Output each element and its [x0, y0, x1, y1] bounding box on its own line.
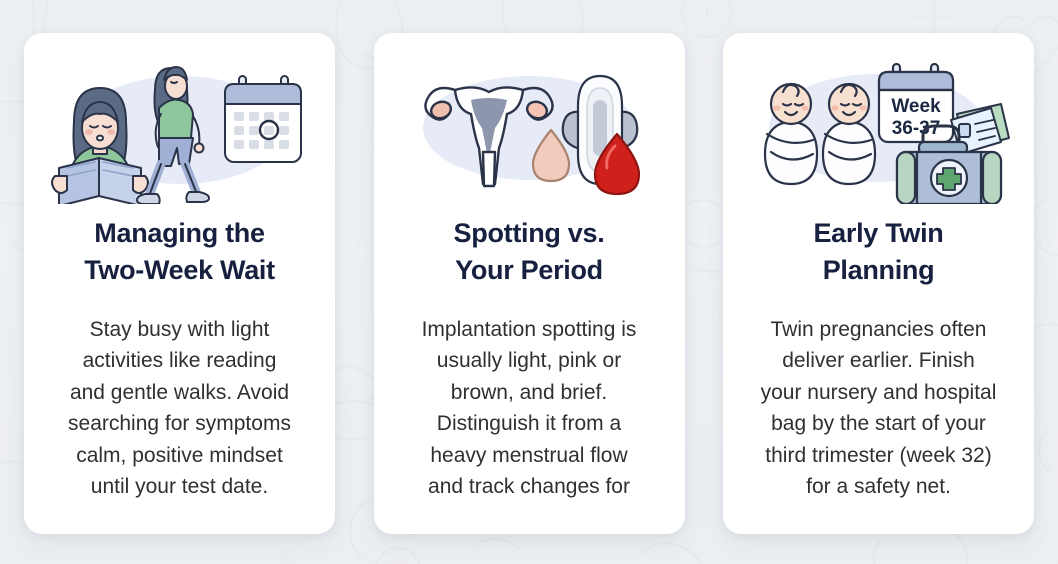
- card-body-text: Implantation spotting is usually light, …: [414, 314, 645, 503]
- card-early-twin-planning[interactable]: Week 36-37: [723, 33, 1034, 534]
- card-title: Spotting vs. Your Period: [454, 215, 605, 290]
- card-spotting-vs-period[interactable]: Spotting vs. Your Period Implantation sp…: [374, 33, 685, 534]
- card-title: Managing the Two-Week Wait: [84, 215, 275, 290]
- card-body-text: Stay busy with light activities like rea…: [62, 314, 297, 503]
- card-title: Early Twin Planning: [813, 215, 943, 290]
- uterus-pad-blood-drop-icon: [390, 55, 669, 205]
- calendar-week-label-line2: 36-37: [891, 118, 940, 139]
- card-managing-two-week-wait[interactable]: Managing the Two-Week Wait Stay busy wit…: [24, 33, 335, 534]
- cards-row: Managing the Two-Week Wait Stay busy wit…: [24, 33, 1034, 534]
- twin-babies-calendar-hospital-bag-icon: Week 36-37: [739, 55, 1018, 205]
- calendar-week-label-line1: Week: [891, 96, 941, 117]
- card-body-text: Twin pregnancies often deliver earlier. …: [759, 314, 999, 503]
- woman-reading-woman-walking-calendar-icon: [40, 55, 319, 205]
